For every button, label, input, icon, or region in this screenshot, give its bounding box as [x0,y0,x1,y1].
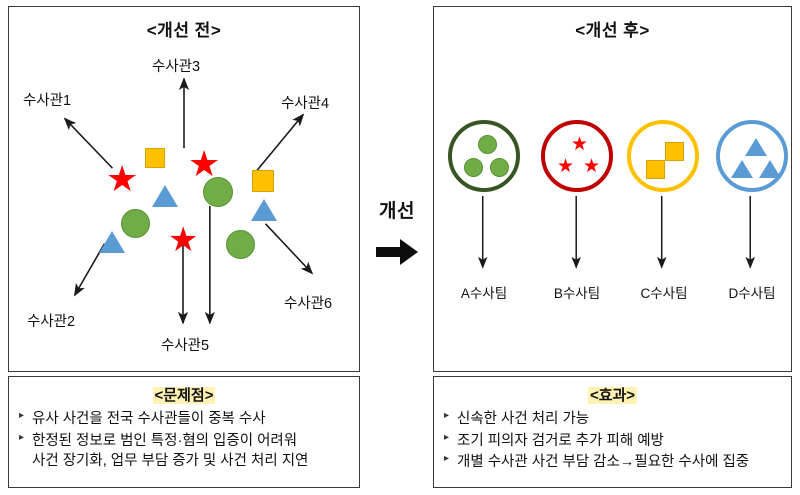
list-item: ▸ 유사 사건을 전국 수사관들이 중복 수사 [19,409,351,430]
bullet-marker-icon: ▸ [19,409,24,423]
green-circle-icon [490,158,509,177]
effect-box: <효과> ▸ 신속한 사건 처리 가능 ▸ 조기 피의자 검거로 추가 피해 예… [433,376,792,488]
label-investigator-6: 수사관6 [284,292,332,313]
label-investigator-2: 수사관2 [27,310,75,331]
before-panel: <개선 전> ★ ★ [8,6,360,372]
list-item: ▸ 조기 피의자 검거로 추가 피해 예방 [444,431,783,452]
label-investigator-3: 수사관3 [152,55,200,76]
diagram-root: <개선 전> ★ ★ [0,0,800,495]
arrow-to-investigator-6 [266,224,313,274]
team-label-d: D수사팀 [711,282,793,302]
label-investigator-1: 수사관1 [23,89,71,110]
list-item: ▸ 개별 수사관 사건 부담 감소→필요한 수사에 집중 [444,452,783,473]
team-circle-d [716,120,788,192]
green-circle-icon [203,177,233,207]
green-circle-icon [226,230,255,259]
team-circle-a [448,120,520,192]
bullet-marker-icon: ▸ [19,431,24,445]
effect-box-title-text: <효과> [588,387,637,404]
bullet-text: 개별 수사관 사건 부담 감소→필요한 수사에 집중 [457,454,749,470]
green-circle-icon [478,135,497,154]
green-circle-icon [464,158,483,177]
bullet-text: 신속한 사건 처리 가능 [457,411,589,427]
after-panel: <개선 후> ★ ★ ★ [433,6,792,372]
before-panel-title: <개선 전> [9,16,359,41]
bullet-marker-icon: ▸ [444,431,449,445]
bullet-marker-icon: ▸ [444,409,449,423]
blue-triangle-icon [745,138,767,156]
yellow-square-icon [252,170,274,192]
list-item: ▸ 한정된 정보로 범인 특정·혐의 입증이 어려워 사건 장기화, 업무 부담… [19,431,351,472]
bullet-text: 조기 피의자 검거로 추가 피해 예방 [457,433,664,449]
bullet-text: 한정된 정보로 범인 특정·혐의 입증이 어려워 [32,433,297,449]
improvement-label: 개선 [366,196,428,223]
blue-triangle-icon [152,185,178,207]
problem-box-title: <문제점> [9,384,359,405]
team-label-b: B수사팀 [536,282,618,302]
red-star-icon: ★ [583,157,600,176]
effect-box-title: <효과> [434,384,791,405]
team-circle-c [627,120,699,192]
bullet-text: 유사 사건을 전국 수사관들이 중복 수사 [32,411,266,427]
yellow-square-icon [665,142,684,161]
problem-box-title-text: <문제점> [153,387,216,404]
after-panel-title: <개선 후> [434,16,791,41]
team-label-c: C수사팀 [623,282,705,302]
problem-bullet-list: ▸ 유사 사건을 전국 수사관들이 중복 수사 ▸ 한정된 정보로 범인 특정·… [9,409,359,472]
yellow-square-icon [646,160,665,179]
blue-triangle-icon [99,231,125,253]
team-circle-b: ★ ★ ★ [541,120,613,192]
green-circle-icon [121,209,150,238]
list-item: ▸ 신속한 사건 처리 가능 [444,409,783,430]
red-star-icon: ★ [106,162,138,198]
yellow-square-icon [145,148,165,168]
bullet-text-continued: 사건 장기화, 업무 부담 증가 및 사건 처리 지연 [32,451,351,472]
blue-triangle-icon [251,199,277,221]
team-label-a: A수사팀 [443,282,525,302]
effect-bullet-list: ▸ 신속한 사건 처리 가능 ▸ 조기 피의자 검거로 추가 피해 예방 ▸ 개… [434,409,791,473]
improvement-marker: 개선 [366,196,428,267]
label-investigator-4: 수사관4 [281,92,329,113]
bullet-marker-icon: ▸ [444,452,449,466]
red-star-icon: ★ [557,157,574,176]
arrow-to-investigator-4 [256,114,304,172]
red-star-icon: ★ [168,223,198,257]
red-star-icon: ★ [571,135,588,154]
problem-box: <문제점> ▸ 유사 사건을 전국 수사관들이 중복 수사 ▸ 한정된 정보로 … [8,376,360,488]
right-arrow-icon [366,237,428,267]
blue-triangle-icon [731,160,753,178]
blue-triangle-icon [759,160,781,178]
label-investigator-5: 수사관5 [161,334,209,355]
